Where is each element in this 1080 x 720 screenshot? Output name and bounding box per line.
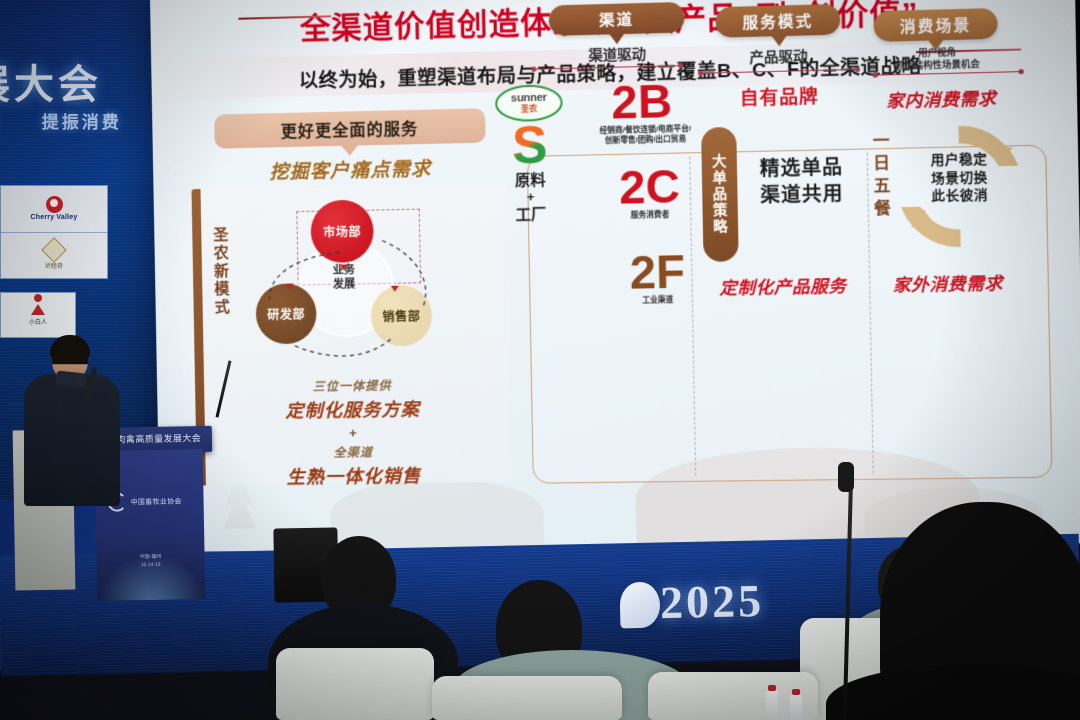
sponsor-logo-wall: Cherry Valley 圻睦奇 <box>0 185 108 279</box>
column-header-label: 渠道 <box>599 8 634 30</box>
service-body-label: 精选单品渠道共用 <box>743 155 860 210</box>
projection-screen: 全渠道价值创造体系-从“卖产品”到“创价值” 以终为始，重塑渠道布局与产品策略，… <box>150 0 1080 552</box>
column-header-label: 服务模式 <box>742 9 813 32</box>
sponsor-logo-diamond: 圻睦奇 <box>1 233 107 279</box>
scenario-cycle-label: 用户稳定场景切换此长彼消 <box>905 149 1013 205</box>
channel-item-2c: 2C <box>582 164 717 210</box>
water-bottle <box>766 690 778 720</box>
audience-chair <box>432 676 622 720</box>
boom-mic-head-icon <box>838 462 854 492</box>
left-panel-footer: 三位一体提供 定制化服务方案 + 全渠道 生熟一体化销售 <box>195 375 512 491</box>
strip-year-label: 2025 <box>659 574 764 629</box>
sunner-logo-cn: 圣农 <box>521 105 538 113</box>
sunner-logo-word: sunner <box>511 93 547 105</box>
footer-line1-big: 定制化服务方案 <box>195 394 511 425</box>
column-header-scenario: 消费场景 <box>873 8 997 42</box>
footer-line1-small: 三位一体提供 <box>195 375 511 397</box>
person-icon <box>31 304 45 315</box>
channel-item-2b: 2B <box>575 79 710 125</box>
sunner-big-letter: S <box>490 123 569 171</box>
backdrop-sub-right: 提振消费 <box>42 113 122 132</box>
venn-arrows <box>192 191 511 368</box>
sponsor-logo-wall-2: 小白人 <box>0 292 76 338</box>
scenario-bottom-label: 家外消费需求 <box>870 268 1026 296</box>
podium-org-logo: 中国畜牧业协会 <box>107 491 193 511</box>
service-top-label: 自有品牌 <box>706 81 852 111</box>
water-bottle <box>790 694 802 720</box>
footer-line2-small: 全渠道 <box>196 441 512 462</box>
left-panel-tag: 更好更全面的服务 <box>214 108 486 148</box>
cherry-valley-icon <box>46 196 63 213</box>
column-header-channel: 渠道 <box>549 2 685 36</box>
column-sub-service: 产品驱动 <box>706 45 852 69</box>
service-bottom-label: 定制化产品服务 <box>704 271 862 299</box>
sunner-plus: + <box>492 188 570 205</box>
sponsor-label: Cherry Valley <box>31 214 78 221</box>
sponsor-logo-cherry-valley: Cherry Valley <box>1 186 107 233</box>
diamond-icon <box>41 237 66 262</box>
venn-diagram: 驱动业务发展 市场部 研发部 销售部 <box>192 191 511 368</box>
sunner-brand-block: sunner 圣农 S 原料 + 工厂 <box>490 84 570 225</box>
column-header-tip <box>610 34 625 45</box>
column-header-tip <box>772 36 787 47</box>
scenario-top-label: 家内消费需求 <box>867 84 1016 113</box>
column-header-service: 服务模式 <box>715 4 840 38</box>
column-header-label: 消费场景 <box>900 13 972 36</box>
footer-line2-big: 生熟一体化销售 <box>197 461 513 491</box>
sunner-cn-1: 原料 <box>491 171 569 190</box>
podium-org-label: 中国畜牧业协会 <box>131 496 182 507</box>
scenario-capsule-label: 一日五餐 <box>867 132 892 222</box>
column-sub-channel: 渠道驱动 <box>549 43 685 67</box>
footer-plus: + <box>196 423 512 442</box>
left-panel-title: 挖掘客户痛点需求 <box>215 153 486 186</box>
left-panel-tag-label: 更好更全面的服务 <box>281 115 419 142</box>
service-capsule-label: 大单品策略 <box>701 127 739 262</box>
speaker-collar <box>55 370 86 387</box>
column-sub-scenario: 用户视角抓住结构性场景机会 <box>866 45 1009 73</box>
conference-photo: 展大会 销 提振消费 Cherry Valley 圻睦奇 小白人 <box>0 0 1080 720</box>
sunner-cn-2: 工厂 <box>492 206 570 225</box>
audience-chair <box>276 648 434 720</box>
sponsor-label: 小白人 <box>29 317 47 326</box>
podium-org-sub: 中国·福州10.14-16 <box>97 553 205 570</box>
